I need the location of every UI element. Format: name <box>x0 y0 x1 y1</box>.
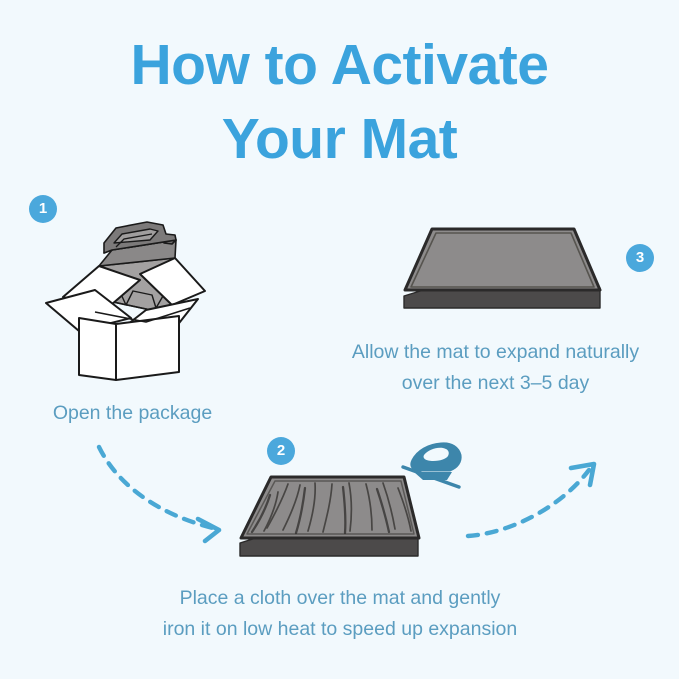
iron-icon <box>403 443 461 487</box>
step-1-caption: Open the package <box>0 398 265 429</box>
step-badge-1[interactable]: 1 <box>29 195 57 223</box>
cloth-covered-mat-icon <box>240 477 419 556</box>
step-2-caption-line-2: iron it on low heat to speed up expansio… <box>110 614 570 645</box>
step-1-caption-line-1: Open the package <box>0 398 265 429</box>
step-2-caption: Place a cloth over the mat and gently ir… <box>110 583 570 645</box>
flat-mat-icon <box>404 229 600 308</box>
step-2-caption-line-1: Place a cloth over the mat and gently <box>110 583 570 614</box>
step-badge-2[interactable]: 2 <box>267 437 295 465</box>
step-3-caption-line-1: Allow the mat to expand naturally <box>312 337 679 368</box>
infographic-canvas: How to Activate Your Mat <box>0 0 679 679</box>
page-title: How to Activate Your Mat <box>0 28 679 176</box>
step-badge-3[interactable]: 3 <box>626 244 654 272</box>
step-3-caption-line-2: over the next 3–5 day <box>312 368 679 399</box>
curved-dashed-arrow-up-right <box>468 464 594 536</box>
curved-dashed-arrow-down-right <box>99 447 219 541</box>
title-line-1: How to Activate <box>0 28 679 102</box>
title-line-2: Your Mat <box>0 102 679 176</box>
step-3-caption: Allow the mat to expand naturally over t… <box>312 337 679 399</box>
packed-mat-shape <box>99 222 176 312</box>
cardboard-box-icon <box>46 222 205 380</box>
